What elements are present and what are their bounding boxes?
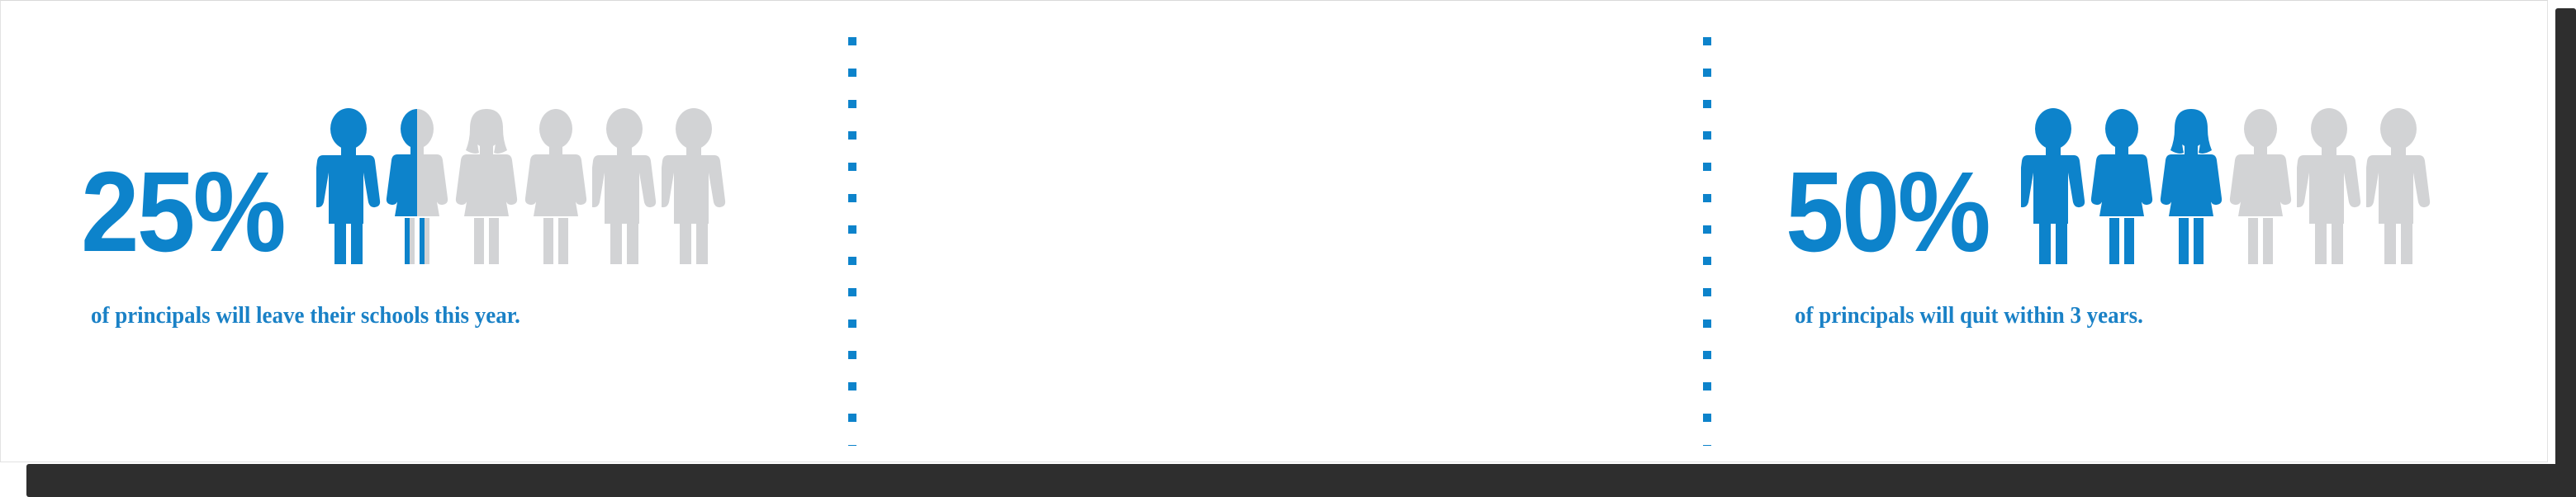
person-icon-man-gray-2 [662, 107, 726, 264]
person-icon-woman-gray [524, 107, 587, 264]
stat-row-1: 25% [81, 107, 726, 269]
panel-divider-2 [1703, 37, 1711, 446]
infographic-root: 25% [0, 0, 2576, 497]
panel-recruit-cost: $ $ $ $ $ $ [1705, 0, 2548, 462]
people-row-1 [316, 107, 726, 269]
panel-quit-3-years: 50% [851, 0, 1705, 462]
person-icon-woman-half-blue [386, 107, 448, 264]
stat-value-1: 25% [81, 155, 284, 269]
person-icon-man-gray-1 [592, 107, 657, 264]
panel-leave-schools: 25% [0, 0, 851, 462]
bottom-chrome-bar [26, 464, 2576, 497]
panel-divider-1 [848, 37, 856, 446]
caption-1: of principals will leave their schools t… [91, 300, 520, 331]
right-chrome-bar[interactable] [2555, 8, 2576, 489]
person-icon-man-blue [316, 107, 381, 264]
panels-container: 25% [0, 0, 2576, 497]
person-icon-woman-long-hair-gray [453, 107, 519, 264]
